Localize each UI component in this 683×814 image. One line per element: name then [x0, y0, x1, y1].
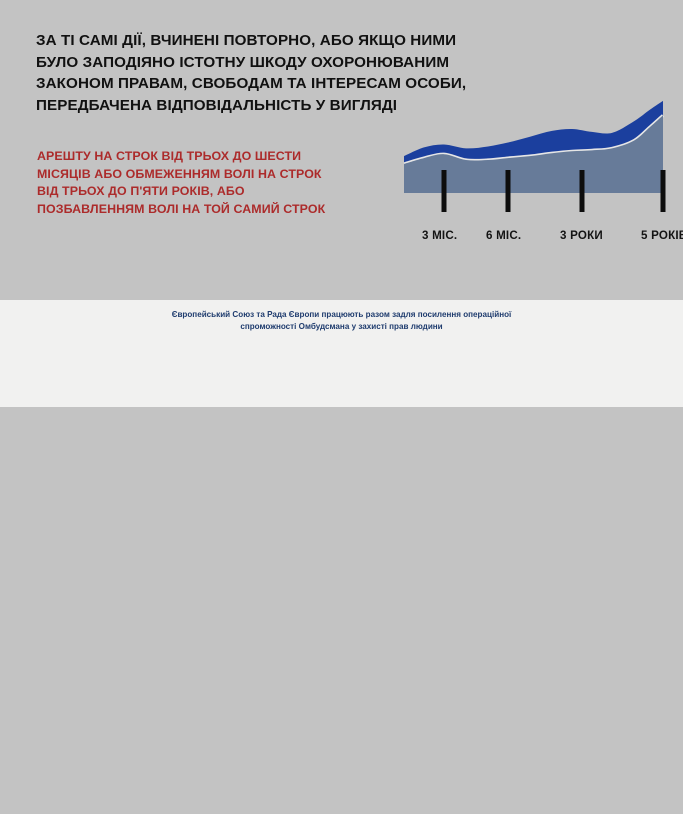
axis-tick-1: [442, 170, 447, 212]
heading-line: ЗА ТІ САМІ ДІЇ, ВЧИНЕНІ ПОВТОРНО, АБО ЯК…: [36, 30, 506, 52]
main-content: ЗА ТІ САМІ ДІЇ, ВЧИНЕНІ ПОВТОРНО, АБО ЯК…: [0, 0, 683, 300]
axis-tick-3: [580, 170, 585, 212]
heading-line: БУЛО ЗАПОДІЯНО ІСТОТНУ ШКОДУ ОХОРОНЮВАНИ…: [36, 52, 506, 74]
penalties-line: АРЕШТУ НА СТРОК ВІД ТРЬОХ ДО ШЕСТИ: [37, 148, 397, 166]
axis-label-3-years: 3 РОКИ: [560, 229, 603, 242]
axis-tick-labels: 3 МІС. 6 МІС. 3 РОКИ 5 РОКІВ: [398, 229, 683, 251]
footer-note-line: спроможності Омбудсмана у захисті прав л…: [0, 321, 683, 333]
axis-label-5-years: 5 РОКІВ: [641, 229, 683, 242]
area-chart: [398, 88, 683, 248]
footer-note: Європейський Союз та Рада Європи працюют…: [0, 309, 683, 333]
footer-band: Європейський Союз та Рада Європи працюют…: [0, 300, 683, 407]
logo-row: Фінансується Європейським Союзом та Радо…: [0, 636, 683, 696]
slide-root: ЗА ТІ САМІ ДІЇ, ВЧИНЕНІ ПОВТОРНО, АБО ЯК…: [0, 0, 683, 407]
axis-tick-4: [661, 170, 666, 212]
penalties-text: АРЕШТУ НА СТРОК ВІД ТРЬОХ ДО ШЕСТИ МІСЯЦ…: [37, 148, 397, 218]
axis-label-3-months: 3 МІС.: [422, 229, 457, 242]
penalties-line: ПОЗБАВЛЕННЯМ ВОЛІ НА ТОЙ САМИЙ СТРОК: [37, 201, 397, 219]
footer-note-line: Європейський Союз та Рада Європи працюют…: [0, 309, 683, 321]
axis-label-6-months: 6 МІС.: [486, 229, 521, 242]
penalties-line: МІСЯЦІВ АБО ОБМЕЖЕННЯМ ВОЛІ НА СТРОК: [37, 166, 397, 184]
penalties-line: ВІД ТРЬОХ ДО П'ЯТИ РОКІВ, АБО: [37, 183, 397, 201]
chart-svg: [398, 88, 683, 248]
axis-tick-2: [506, 170, 511, 212]
